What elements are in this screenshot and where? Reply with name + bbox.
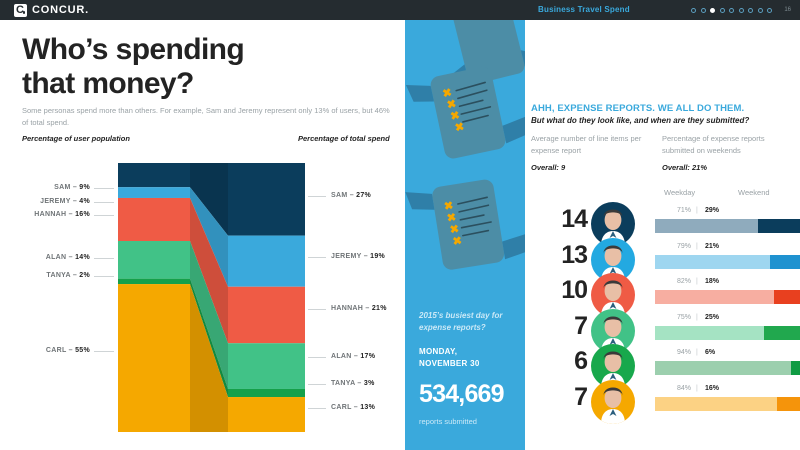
avatar-face-icon	[600, 386, 626, 424]
pagination-dot-8[interactable]	[758, 8, 763, 13]
sankey-left-segment-hannah	[118, 198, 190, 241]
leader-line	[308, 309, 326, 310]
right-heading: AHH, EXPENSE REPORTS. WE ALL DO THEM.	[531, 103, 744, 114]
weekday-percent: 82%	[651, 278, 691, 285]
weekday-header: Weekday	[664, 188, 695, 197]
line-items-count: 13	[525, 243, 587, 268]
percent-separator: |	[696, 278, 698, 285]
column1-label: Average number of line items per expense…	[531, 133, 651, 157]
weekend-percent: 18%	[705, 278, 719, 285]
sankey-left-segment-carl	[118, 284, 190, 432]
brand-name: CONCUR.	[32, 4, 89, 16]
page-title-line2: that money?	[22, 67, 402, 101]
top-bar: C CONCUR. Business Travel Spend 16	[0, 0, 800, 20]
column2-label: Percentage of expense reports submitted …	[662, 133, 797, 157]
weekday-bar-segment	[655, 326, 764, 340]
leader-line	[94, 215, 114, 216]
sankey-right-label-hannah: HANNAH – 21%	[331, 305, 387, 312]
page-title-line1: Who’s spending	[22, 33, 402, 67]
line-items-count: 7	[525, 314, 587, 339]
axis-caption-left: Percentage of user population	[22, 134, 130, 143]
persona-stats-rows: 1471%|29%1379%|21%1082%|18%775%|25%694%|…	[525, 205, 800, 420]
column1-overall: Overall: 9	[531, 163, 565, 172]
weekday-percent: 84%	[651, 385, 691, 392]
logo-letter: C	[16, 4, 24, 17]
sankey-left-label-hannah: HANNAH – 16%	[0, 211, 90, 218]
weekday-percent: 75%	[651, 314, 691, 321]
weekend-bar-segment	[758, 219, 800, 233]
sankey-right-label-carl: CARL – 13%	[331, 404, 375, 411]
busiest-day-line: MONDAY,	[419, 346, 519, 358]
pagination-dot-7[interactable]	[748, 8, 753, 13]
pagination-dot-9[interactable]	[767, 8, 772, 13]
svg-text:✖: ✖	[452, 235, 463, 248]
sankey-right-segment-tanya	[228, 389, 305, 397]
pagination-dot-1[interactable]	[691, 8, 696, 13]
weekday-bar-segment	[655, 219, 758, 233]
persona-stat-row: 775%|25%	[525, 312, 800, 348]
sankey-left-segment-tanya	[118, 279, 190, 284]
weekday-weekend-bar	[655, 290, 800, 304]
sankey-left-label-tanya: TANYA – 2%	[0, 272, 90, 279]
line-items-count: 6	[525, 349, 587, 374]
weekend-percent: 29%	[705, 207, 719, 214]
weekend-header: Weekend	[738, 188, 770, 197]
concur-logo-mark: C	[14, 4, 27, 17]
percent-separator: |	[696, 349, 698, 356]
line-items-count: 14	[525, 207, 587, 232]
sankey-left-segment-sam	[118, 163, 190, 187]
sankey-right-segment-sam	[228, 163, 305, 236]
concur-logo[interactable]: C CONCUR.	[14, 4, 89, 17]
weekday-percent: 79%	[651, 243, 691, 250]
leader-line	[308, 408, 326, 409]
busiest-day-line: NOVEMBER 30	[419, 358, 519, 370]
leader-line	[94, 351, 114, 352]
weekday-weekend-bar	[655, 397, 800, 411]
percent-separator: |	[696, 243, 698, 250]
pagination-dot-2[interactable]	[701, 8, 706, 13]
weekend-percent: 21%	[705, 243, 719, 250]
persona-stat-row: 1471%|29%	[525, 205, 800, 241]
pagination-dot-3[interactable]	[710, 8, 715, 13]
percent-separator: |	[696, 207, 698, 214]
percent-separator: |	[696, 385, 698, 392]
leader-line	[308, 357, 326, 358]
sankey-right-segment-carl	[228, 397, 305, 432]
weekday-percent: 71%	[651, 207, 691, 214]
sankey-left-segment-jeremy	[118, 187, 190, 198]
weekday-bar-segment	[655, 255, 770, 269]
leader-line	[308, 196, 326, 197]
reports-count-caption: reports submitted	[419, 417, 519, 426]
persona-stat-row: 1082%|18%	[525, 276, 800, 312]
persona-stat-row: 1379%|21%	[525, 241, 800, 277]
leader-line	[94, 188, 114, 189]
sankey-right-label-alan: ALAN – 17%	[331, 353, 375, 360]
line-items-count: 7	[525, 385, 587, 410]
weekend-bar-segment	[770, 255, 800, 269]
weekday-bar-segment	[655, 397, 777, 411]
percent-separator: |	[696, 314, 698, 321]
busiest-day-question: 2015’s busiest day for expense reports?	[419, 310, 519, 334]
busiest-day-text: 2015’s busiest day for expense reports? …	[419, 310, 519, 426]
sankey-left-segment-alan	[118, 241, 190, 279]
busiest-day-panel: ✖✖ ✖✖ ✖✖ ✖✖	[405, 20, 525, 450]
weekend-percent: 16%	[705, 385, 719, 392]
sankey-right-label-sam: SAM – 27%	[331, 192, 371, 199]
weekend-bar-segment	[764, 326, 800, 340]
weekday-weekend-bar	[655, 361, 800, 375]
infographic-slide: C CONCUR. Business Travel Spend 16 Who’s…	[0, 0, 800, 450]
axis-caption-right: Percentage of total spend	[298, 134, 390, 143]
busiest-day-value: MONDAY,NOVEMBER 30	[419, 346, 519, 369]
sankey-left-label-carl: CARL – 55%	[0, 347, 90, 354]
sankey-right-segment-jeremy	[228, 236, 305, 287]
leader-line	[308, 384, 326, 385]
weekday-bar-segment	[655, 361, 791, 375]
weekday-weekend-bar	[655, 255, 800, 269]
weekend-bar-segment	[777, 397, 800, 411]
deck-title: Business Travel Spend	[538, 0, 630, 20]
reports-count: 534,669	[419, 380, 519, 409]
weekday-bar-segment	[655, 290, 774, 304]
pagination-dot-5[interactable]	[729, 8, 734, 13]
weekend-percent: 6%	[705, 349, 715, 356]
leader-line	[94, 276, 114, 277]
sankey-left-label-jeremy: JEREMY – 4%	[0, 198, 90, 205]
weekend-bar-segment	[791, 361, 800, 375]
right-subheading: But what do they look like, and when are…	[531, 116, 749, 125]
leader-line	[94, 202, 114, 203]
weekday-weekend-bar	[655, 326, 800, 340]
sankey-right-label-tanya: TANYA – 3%	[331, 380, 375, 387]
sankey-right-label-jeremy: JEREMY – 19%	[331, 253, 385, 260]
pagination-dot-4[interactable]	[720, 8, 725, 13]
weekday-weekend-bar	[655, 219, 800, 233]
pagination-dots[interactable]	[691, 0, 772, 20]
weekend-bar-segment	[774, 290, 800, 304]
weekday-percent: 94%	[651, 349, 691, 356]
sankey-right-segment-hannah	[228, 287, 305, 343]
persona-stat-row: 694%|6%	[525, 347, 800, 383]
avatar	[591, 380, 635, 424]
column2-overall: Overall: 21%	[662, 163, 707, 172]
pagination-dot-6[interactable]	[739, 8, 744, 13]
page-title: Who’s spending that money?	[22, 33, 402, 100]
sankey-left-label-alan: ALAN – 14%	[0, 254, 90, 261]
weekend-percent: 25%	[705, 314, 719, 321]
line-items-count: 10	[525, 278, 587, 303]
leader-line	[308, 257, 326, 258]
sankey-right-segment-alan	[228, 343, 305, 389]
page-subtitle: Some personas spend more than others. Fo…	[22, 105, 397, 128]
sankey-left-label-sam: SAM – 9%	[0, 184, 90, 191]
page-number: 16	[784, 0, 791, 20]
logo-dot	[23, 11, 26, 14]
persona-stat-row: 784%|16%	[525, 383, 800, 419]
leader-line	[94, 258, 114, 259]
